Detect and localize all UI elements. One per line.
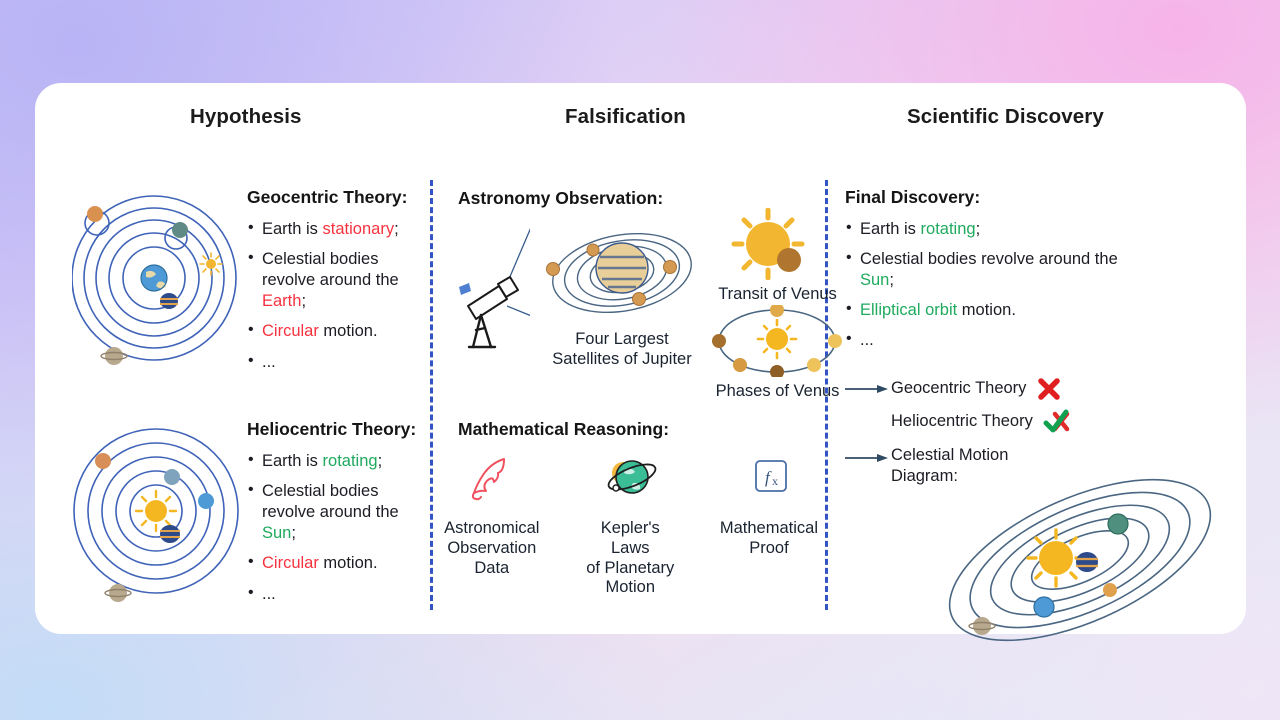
bullet-accent-text: rotating xyxy=(921,220,976,238)
sun-icon xyxy=(1028,530,1084,586)
sun-icon xyxy=(758,320,796,358)
final-discovery-title: Final Discovery: xyxy=(845,187,1155,208)
planet-mercury-icon xyxy=(95,453,111,469)
planet-saturn-icon xyxy=(973,617,991,635)
planet-uranus-icon xyxy=(172,222,188,238)
bullet-item: ... xyxy=(247,352,422,373)
mathematical-reasoning-title: Mathematical Reasoning: xyxy=(458,419,669,440)
bullet-accent-text: Elliptical orbit xyxy=(860,301,957,319)
jupiter-moons-diagram xyxy=(532,223,712,323)
bullet-item: Celestial bodies revolve around the Eart… xyxy=(247,249,422,312)
verdict-row-geocentric: Geocentric Theory xyxy=(843,372,1143,405)
check-mark-icon xyxy=(1043,409,1071,435)
bullet-item: Earth is rotating; xyxy=(247,451,425,472)
planet-mars-icon xyxy=(87,206,103,222)
planet-mars-icon xyxy=(1103,583,1117,597)
column-divider-left xyxy=(430,180,433,610)
transit-of-venus-diagram xyxy=(690,208,865,280)
bullet-item: Celestial bodies revolve around the Sun; xyxy=(845,249,1155,291)
verdict-label-geocentric: Geocentric Theory xyxy=(891,379,1026,398)
theory-verdicts: Geocentric Theory Heliocentric Theory xyxy=(843,372,1143,438)
planet-neptune-icon xyxy=(164,469,180,485)
flow-caption-mathematical-proof: MathematicalProof xyxy=(720,519,818,559)
column-header-scientific-discovery: Scientific Discovery xyxy=(907,105,1104,129)
flow-node-observation-data: AstronomicalObservationData xyxy=(443,453,541,578)
planet-jupiter-icon xyxy=(160,293,178,309)
phases-of-venus-diagram xyxy=(690,305,865,377)
bullet-item: Circular motion. xyxy=(247,321,422,342)
heliocentric-theory-title: Heliocentric Theory: xyxy=(247,419,425,440)
planet-earth-icon xyxy=(1034,597,1054,617)
geocentric-theory-title: Geocentric Theory: xyxy=(247,187,422,208)
bullet-accent-text: rotating xyxy=(323,452,378,470)
bullet-accent-text: stationary xyxy=(323,220,395,238)
planet-earth-orbit-icon xyxy=(601,453,659,503)
astronomy-observation-title: Astronomy Observation: xyxy=(458,188,663,209)
celestial-motion-diagram xyxy=(930,478,1230,643)
final-discovery-block: Final Discovery: Earth is rotating;Celes… xyxy=(845,187,1155,361)
planet-earth-icon xyxy=(198,493,214,509)
bullet-item: Circular motion. xyxy=(247,553,425,574)
cross-mark-icon xyxy=(1036,376,1062,402)
bullet-accent-text: Earth xyxy=(262,292,301,310)
geocentric-bullet-list: Earth is stationary;Celestial bodies rev… xyxy=(247,219,422,373)
heliocentric-theory-block: Heliocentric Theory: Earth is rotating;C… xyxy=(247,419,425,614)
column-header-falsification: Falsification xyxy=(565,105,686,129)
verdict-label-heliocentric: Heliocentric Theory xyxy=(891,412,1033,431)
bullet-item: ... xyxy=(247,584,425,605)
final-discovery-bullet-list: Earth is rotating;Celestial bodies revol… xyxy=(845,219,1155,352)
bullet-item: Earth is stationary; xyxy=(247,219,422,240)
planet-saturn-icon xyxy=(105,347,123,365)
heliocentric-orbit-diagram xyxy=(68,421,248,611)
geocentric-theory-block: Geocentric Theory: Earth is stationary;C… xyxy=(247,187,422,382)
quill-pen-icon xyxy=(464,453,520,503)
column-headers: Hypothesis Falsification Scientific Disc… xyxy=(35,105,1246,139)
planet-neptune-icon xyxy=(1108,514,1128,534)
jupiter-satellites-figure: Four LargestSatellites of Jupiter xyxy=(532,223,712,370)
heliocentric-bullet-list: Earth is rotating;Celestial bodies revol… xyxy=(247,451,425,605)
planet-saturn-icon xyxy=(109,584,127,602)
bullet-item: Celestial bodies revolve around the Sun; xyxy=(247,481,425,544)
phases-of-venus-figure: Phases of Venus xyxy=(690,305,865,402)
bullet-accent-text: Sun xyxy=(262,524,291,542)
verdict-arrow-icon xyxy=(843,382,891,396)
geocentric-orbit-diagram xyxy=(72,188,242,373)
bullet-accent-text: Circular xyxy=(262,554,319,572)
flow-arrow-icon xyxy=(541,453,582,491)
sun-icon xyxy=(200,253,222,275)
bullet-accent-text: Sun xyxy=(860,271,889,289)
planet-jupiter-icon xyxy=(1076,552,1098,572)
venus-icon xyxy=(777,248,801,272)
flow-node-mathematical-proof: f x MathematicalProof xyxy=(720,453,818,559)
planet-jupiter-icon xyxy=(160,525,180,543)
function-fx-icon: f x xyxy=(748,453,790,503)
flow-caption-keplers-laws: Kepler's Lawsof PlanetaryMotion xyxy=(581,519,679,598)
bullet-item: ... xyxy=(845,330,1155,351)
main-card: Hypothesis Falsification Scientific Disc… xyxy=(35,83,1246,634)
earth-center-icon xyxy=(141,265,167,291)
transit-of-venus-caption: Transit of Venus xyxy=(690,285,865,305)
mathematical-reasoning-flow: AstronomicalObservationData Kepler's Law… xyxy=(443,453,818,598)
transit-of-venus-figure: Transit of Venus xyxy=(690,208,865,305)
phases-of-venus-caption: Phases of Venus xyxy=(690,382,865,402)
flow-caption-observation-data: AstronomicalObservationData xyxy=(444,519,539,578)
bullet-accent-text: Circular xyxy=(262,322,319,340)
verdict-row-heliocentric: Heliocentric Theory xyxy=(843,405,1143,438)
bullet-item: Elliptical orbit motion. xyxy=(845,300,1155,321)
flow-node-keplers-laws: Kepler's Lawsof PlanetaryMotion xyxy=(581,453,679,598)
flow-arrow-icon xyxy=(679,453,720,491)
jupiter-satellites-caption: Four LargestSatellites of Jupiter xyxy=(532,330,712,370)
bullet-item: Earth is rotating; xyxy=(845,219,1155,240)
telescope-icon xyxy=(455,223,530,368)
column-header-hypothesis: Hypothesis xyxy=(190,105,302,129)
verdict-arrow-icon xyxy=(843,451,891,465)
svg-text:x: x xyxy=(772,474,778,488)
